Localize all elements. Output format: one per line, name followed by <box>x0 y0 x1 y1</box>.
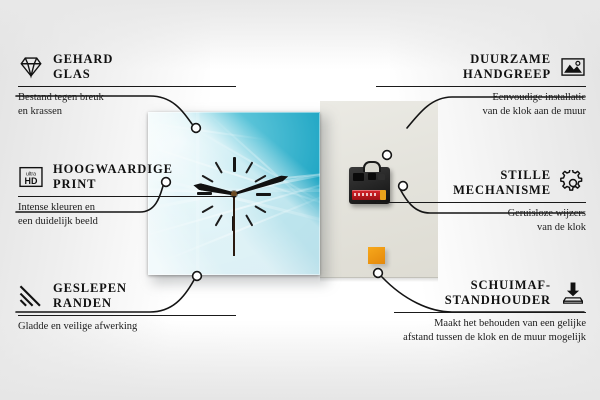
feature-description: Gladde en veilige afwerking <box>18 320 236 334</box>
infographic-canvas: GEHARD GLAS Bestand tegen breuk en krass… <box>0 0 600 400</box>
feature-divider <box>18 86 236 87</box>
feature-divider <box>376 202 586 203</box>
feature-description: Maakt het behouden van een gelijke afsta… <box>394 317 586 345</box>
mechanism-slot <box>368 173 376 180</box>
feature-divider <box>394 312 586 313</box>
feature-description: Bestand tegen breuk en krassen <box>18 91 236 119</box>
feature-divider <box>18 196 236 197</box>
feature-geslepen-randen: GESLEPEN RANDEN Gladde en veilige afwerk… <box>18 281 236 334</box>
feature-title: STILLE MECHANISME <box>453 168 551 199</box>
feature-title: HOOGWAARDIGE PRINT <box>53 162 173 193</box>
feature-divider <box>376 86 586 87</box>
ultra-hd-icon: ultra HD <box>18 164 44 190</box>
feature-schuimaf-standhouder: SCHUIMAF- STANDHOUDER Maakt het behouden… <box>394 278 586 345</box>
feature-stille-mechanisme: STILLE MECHANISME Geruisloze wijzers van… <box>376 168 586 235</box>
feature-title: GESLEPEN RANDEN <box>53 281 127 312</box>
stamp-down-arrow-icon <box>560 280 586 306</box>
feature-hoogwaardige-print: ultra HD HOOGWAARDIGE PRINT Intense kleu… <box>18 162 236 229</box>
feature-description: Intense kleuren en een duidelijk beeld <box>18 201 236 229</box>
feature-divider <box>18 315 236 316</box>
feature-gehard-glas: GEHARD GLAS Bestand tegen breuk en krass… <box>18 52 236 119</box>
battery-label-stripes <box>354 193 376 196</box>
diagonal-lines-icon <box>18 283 44 309</box>
feature-title: DUURZAME HANDGREEP <box>463 52 551 83</box>
feature-title: SCHUIMAF- STANDHOUDER <box>445 278 551 309</box>
gear-icon <box>560 170 586 196</box>
mechanism-slot <box>353 173 364 181</box>
picture-frame-icon <box>560 54 586 80</box>
feature-description: Eenvoudige installatie van de klok aan d… <box>376 91 586 119</box>
svg-text:HD: HD <box>25 176 38 186</box>
foam-spacer-pad <box>368 247 385 264</box>
feature-title: GEHARD GLAS <box>53 52 113 83</box>
feature-description: Geruisloze wijzers van de klok <box>376 207 586 235</box>
diamond-icon <box>18 54 44 80</box>
feature-duurzame-handgreep: DUURZAME HANDGREEP Eenvoudige installati… <box>376 52 586 119</box>
